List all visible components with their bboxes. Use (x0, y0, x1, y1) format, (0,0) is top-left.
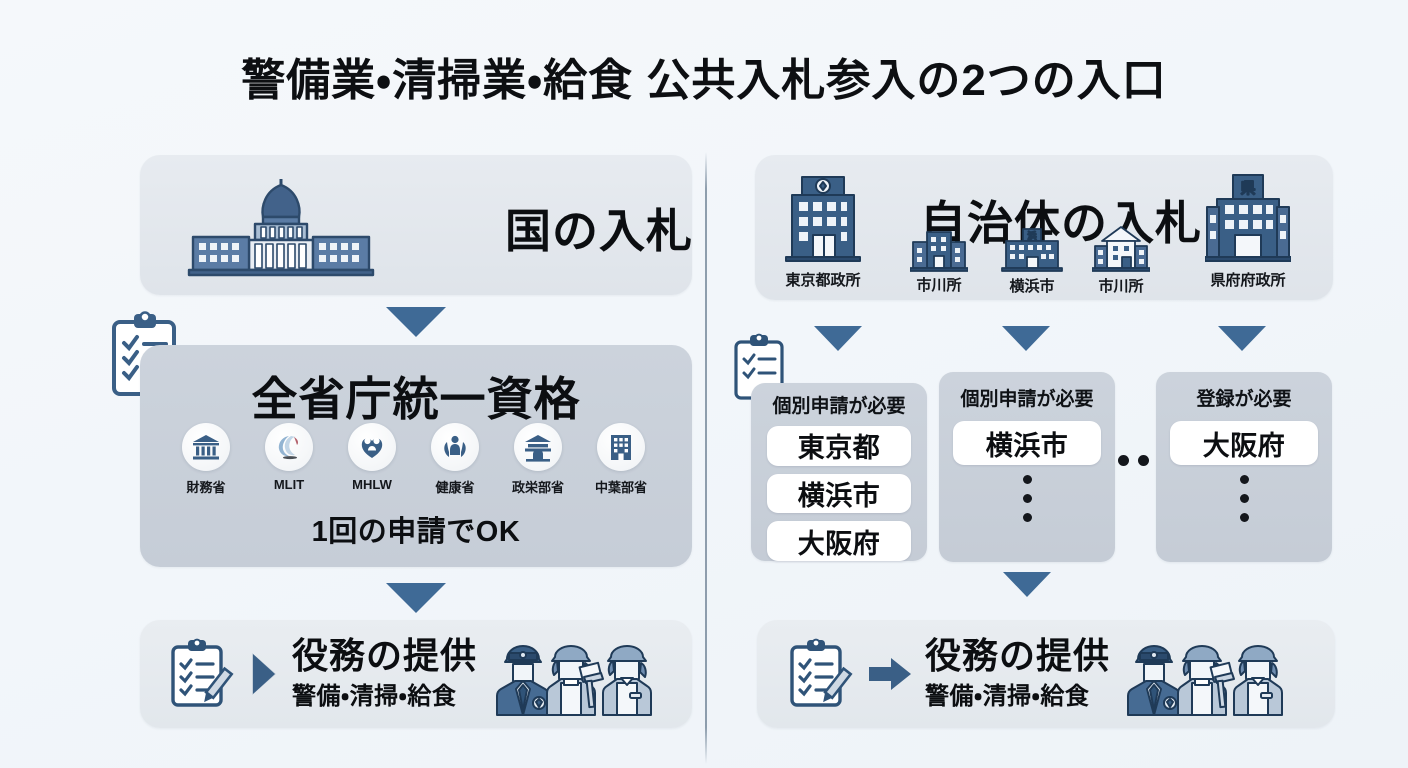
building-item-2: 浜 横浜市 (1001, 227, 1063, 296)
single-application-note: 1回の申請でOK (140, 508, 692, 550)
prefecture-hall-icon: 県 (1205, 171, 1291, 267)
municipality-card-1: 個別申請が必要 横浜市 (939, 372, 1115, 562)
arrow-down-icon-right-1 (814, 326, 862, 351)
building-label: 横浜市 (1009, 275, 1054, 296)
office-building-icon (597, 423, 645, 471)
municipality-pill[interactable]: 横浜市 (953, 421, 1101, 465)
ministry-item-health: 健康省 (426, 423, 484, 496)
card-title: 個別申請が必要 (772, 391, 905, 418)
clipboard-pencil-icon (168, 637, 234, 711)
arrow-down-icon-right-bottom (1003, 572, 1051, 597)
ministry-item-mhlw: MHLW (343, 423, 401, 492)
municipality-card-0: 個別申請が必要 東京都 横浜市 大阪府 (751, 383, 927, 561)
municipal-bidding-header-panel: 自治体の入札 (755, 155, 1333, 300)
clipboard-pencil-icon (787, 637, 853, 711)
center-divider (705, 152, 707, 764)
ministry-item-finance: 財務省 (177, 423, 235, 496)
municipality-card-2: 登録が必要 大阪府 (1156, 372, 1332, 562)
building-item-3: 市川所 (1092, 225, 1150, 296)
town-office-icon (1092, 225, 1150, 273)
page-title: 警備業・清掃業・給食 公共入札参入の2つの入口 (0, 44, 1408, 108)
arrow-right-icon (867, 655, 913, 693)
people-heart-icon (348, 423, 396, 471)
ministry-item-mlit: MLIT (260, 423, 318, 492)
building-item-1: 市川所 (910, 230, 968, 295)
city-hall-large-icon (780, 171, 866, 267)
vertical-ellipsis-icon (1240, 475, 1249, 522)
arrow-down-icon-right-2 (1002, 326, 1050, 351)
building-item-0: 東京都政所 (780, 171, 866, 290)
municipality-pill[interactable]: 大阪府 (1170, 421, 1318, 465)
left-service-panel: 役務の提供 警備・清掃・給食 (140, 620, 692, 728)
right-service-panel: 役務の提供 警備・清掃・給食 (757, 620, 1335, 728)
ministry-label: MHLW (352, 477, 392, 492)
building-label: 市川所 (916, 274, 961, 295)
card-title: 個別申請が必要 (960, 384, 1093, 411)
vertical-ellipsis-icon (1023, 475, 1032, 522)
card-title: 登録が必要 (1196, 384, 1291, 411)
caring-hands-icon (431, 423, 479, 471)
arrow-down-icon-left-2 (386, 583, 446, 613)
city-office-wide-icon: 浜 (1001, 227, 1063, 273)
ministry-label: 政栄部省 (512, 477, 564, 496)
arrow-right-triangle-icon (248, 650, 280, 698)
service-title: 役務の提供 (925, 637, 1110, 675)
ministry-label: 財務省 (186, 477, 225, 496)
building-item-4: 県 県府府政所 (1205, 171, 1291, 290)
unified-qualification-panel: 全省庁統一資格 (140, 345, 692, 567)
ministry-icon-row: 財務省 MLIT (177, 423, 650, 496)
ministry-label: MLIT (274, 477, 304, 492)
gate-building-icon (514, 423, 562, 471)
service-subtitle: 警備・清掃・給食 (925, 676, 1110, 711)
security-cleaning-catering-workers-icon (493, 631, 663, 717)
unified-qualification-title: 全省庁統一資格 (140, 363, 692, 429)
building-label: 市川所 (1098, 275, 1143, 296)
ministry-label: 中葉部省 (595, 477, 647, 496)
arrow-down-icon-right-3 (1218, 326, 1266, 351)
ministry-item-chuyo: 中葉部省 (592, 423, 650, 496)
service-title: 役務の提供 (292, 637, 477, 675)
ministry-label: 健康省 (435, 477, 474, 496)
svg-text:県: 県 (1240, 179, 1255, 197)
municipality-pill[interactable]: 大阪府 (767, 521, 911, 561)
city-office-small-icon (910, 230, 968, 272)
ministry-item-seiei: 政栄部省 (509, 423, 567, 496)
bank-pillars-icon (182, 423, 230, 471)
national-bidding-header-panel: 国の入札 (140, 155, 692, 295)
national-bidding-label: 国の入札 (505, 195, 693, 261)
parliament-building-icon (185, 173, 377, 277)
municipality-pill[interactable]: 東京都 (767, 426, 911, 466)
municipality-pill[interactable]: 横浜市 (767, 474, 911, 514)
service-subtitle: 警備・清掃・給食 (292, 676, 477, 711)
swirl-globe-icon (265, 423, 313, 471)
security-cleaning-catering-workers-icon (1124, 631, 1294, 717)
arrow-down-icon-left-1 (386, 307, 446, 337)
building-label: 県府府政所 (1210, 269, 1285, 290)
building-label: 東京都政所 (785, 269, 860, 290)
infographic-canvas: 警備業・清掃業・給食 公共入札参入の2つの入口 (0, 0, 1408, 768)
